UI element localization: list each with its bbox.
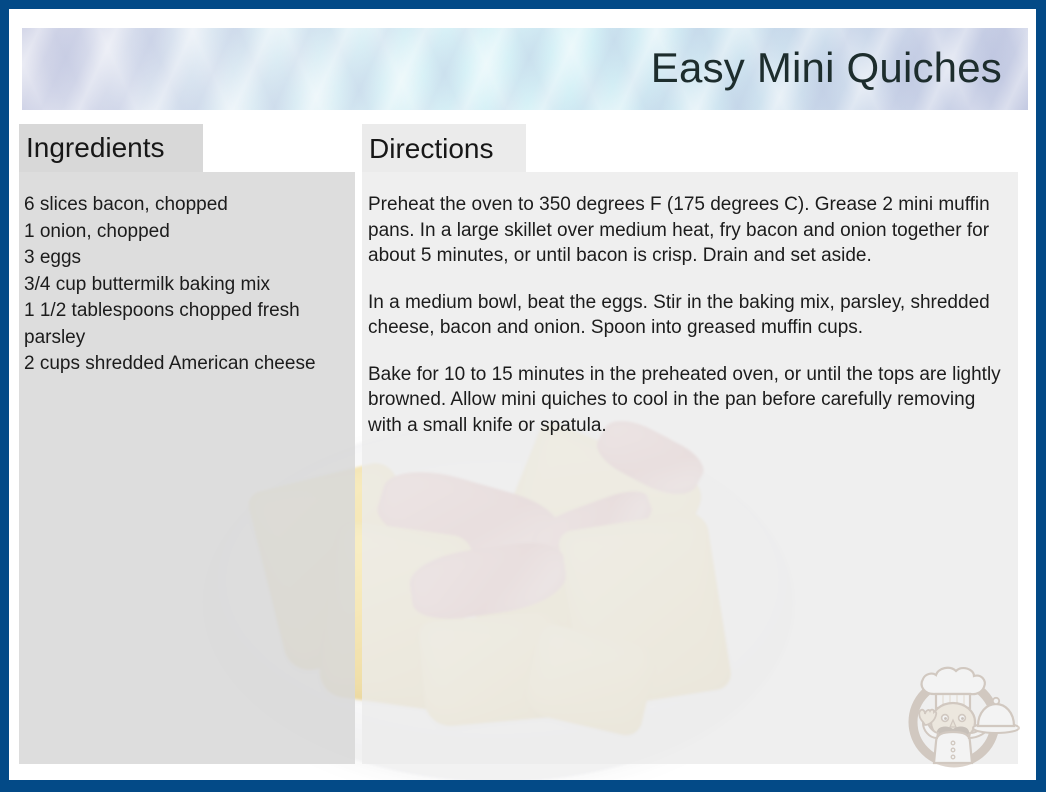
directions-paragraph: Preheat the oven to 350 degrees F (175 d…	[368, 192, 1002, 269]
list-item: 3/4 cup buttermilk baking mix	[24, 272, 354, 299]
recipe-slide: Easy Mini Quiches Ingredients Directions…	[0, 0, 1046, 792]
list-item: 1 1/2 tablespoons chopped fresh parsley	[24, 298, 354, 351]
list-item: 2 cups shredded American cheese	[24, 351, 354, 378]
chef-logo-icon	[896, 650, 1022, 776]
title-banner: Easy Mini Quiches	[22, 28, 1028, 110]
slide-border-bottom	[0, 780, 1046, 792]
directions-heading: Directions	[369, 135, 493, 163]
list-item: 6 slices bacon, chopped	[24, 192, 354, 219]
slide-border-top	[0, 0, 1046, 9]
ingredients-heading: Ingredients	[26, 134, 165, 162]
directions-text: Preheat the oven to 350 degrees F (175 d…	[368, 192, 1002, 438]
page-title: Easy Mini Quiches	[651, 47, 1002, 89]
directions-paragraph: Bake for 10 to 15 minutes in the preheat…	[368, 362, 1002, 439]
directions-paragraph: In a medium bowl, beat the eggs. Stir in…	[368, 290, 1002, 341]
slide-border-right	[1036, 0, 1046, 792]
list-item: 3 eggs	[24, 245, 354, 272]
slide-border-left	[0, 0, 9, 792]
ingredients-list: 6 slices bacon, chopped 1 onion, chopped…	[24, 192, 354, 378]
list-item: 1 onion, chopped	[24, 219, 354, 246]
